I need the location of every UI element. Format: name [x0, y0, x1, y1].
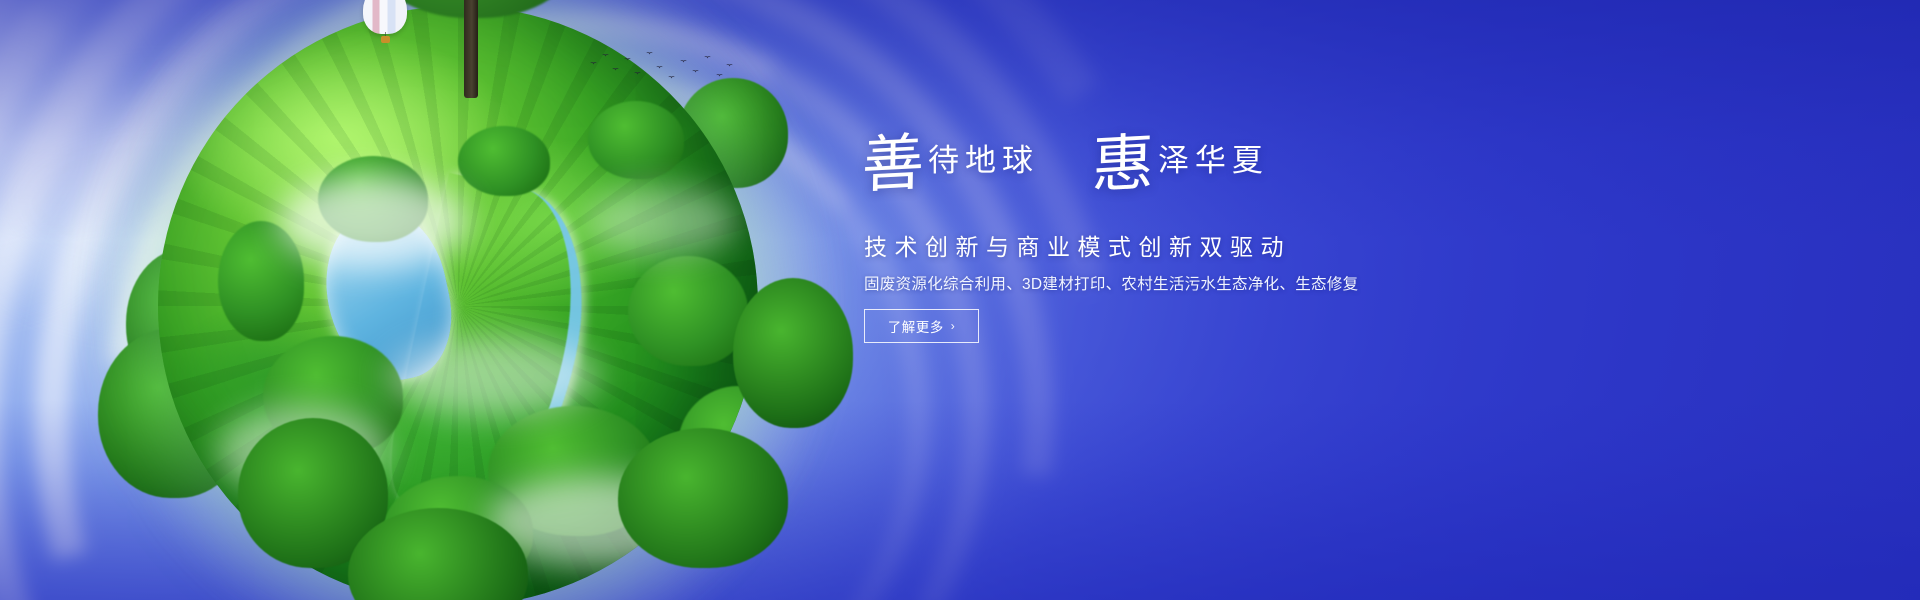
- mist-cloud: [278, 176, 468, 268]
- tree-trunk: [464, 0, 478, 98]
- bird-icon: [726, 64, 733, 68]
- page-title: 善待地球 惠泽华夏: [862, 133, 1482, 213]
- bird-icon: [612, 68, 619, 72]
- bush: [588, 101, 684, 179]
- bird-icon: [590, 62, 597, 66]
- birds-flock: [590, 48, 740, 92]
- learn-more-label: 了解更多: [888, 316, 944, 336]
- bird-icon: [716, 74, 723, 78]
- mist-cloud: [388, 336, 598, 416]
- hero-content: 善待地球 惠泽华夏 技术创新与商业模式创新双驱动 固废资源化综合利用、3D建材打…: [862, 0, 1482, 600]
- bush: [458, 126, 550, 196]
- bird-icon: [692, 70, 699, 74]
- bush: [628, 256, 748, 366]
- bird-icon: [680, 60, 687, 64]
- bird-icon: [624, 58, 631, 62]
- headline-lead-char-2: 惠: [1091, 131, 1154, 196]
- bird-icon: [656, 66, 663, 70]
- balloon-basket: [381, 36, 390, 43]
- bird-icon: [634, 72, 641, 76]
- mist-cloud: [588, 186, 738, 256]
- hero-subtitle: 技术创新与商业模式创新双驱动: [864, 228, 1291, 262]
- chevron-right-icon: ›: [951, 320, 956, 332]
- headline-rest-1: 待地球: [928, 146, 1039, 177]
- bird-icon: [704, 56, 711, 60]
- bird-icon: [668, 76, 675, 80]
- bird-icon: [646, 52, 653, 56]
- bird-icon: [602, 54, 609, 58]
- tree-silhouette: [733, 278, 853, 428]
- balloon-envelope: [363, 0, 407, 34]
- headline-rest-2: 泽华夏: [1158, 146, 1269, 177]
- hero-description: 固废资源化综合利用、3D建材打印、农村生活污水生态净化、生态修复: [864, 272, 1358, 294]
- headline-lead-char-1: 善: [861, 131, 924, 196]
- hot-air-balloon-icon: [363, 0, 407, 44]
- tree-silhouette: [618, 428, 788, 568]
- headline-phrase-2: 惠泽华夏: [1092, 133, 1269, 195]
- learn-more-button[interactable]: 了解更多 ›: [864, 309, 979, 343]
- headline-phrase-1: 善待地球: [862, 133, 1039, 195]
- hero-banner: 善待地球 惠泽华夏 技术创新与商业模式创新双驱动 固废资源化综合利用、3D建材打…: [0, 0, 1920, 600]
